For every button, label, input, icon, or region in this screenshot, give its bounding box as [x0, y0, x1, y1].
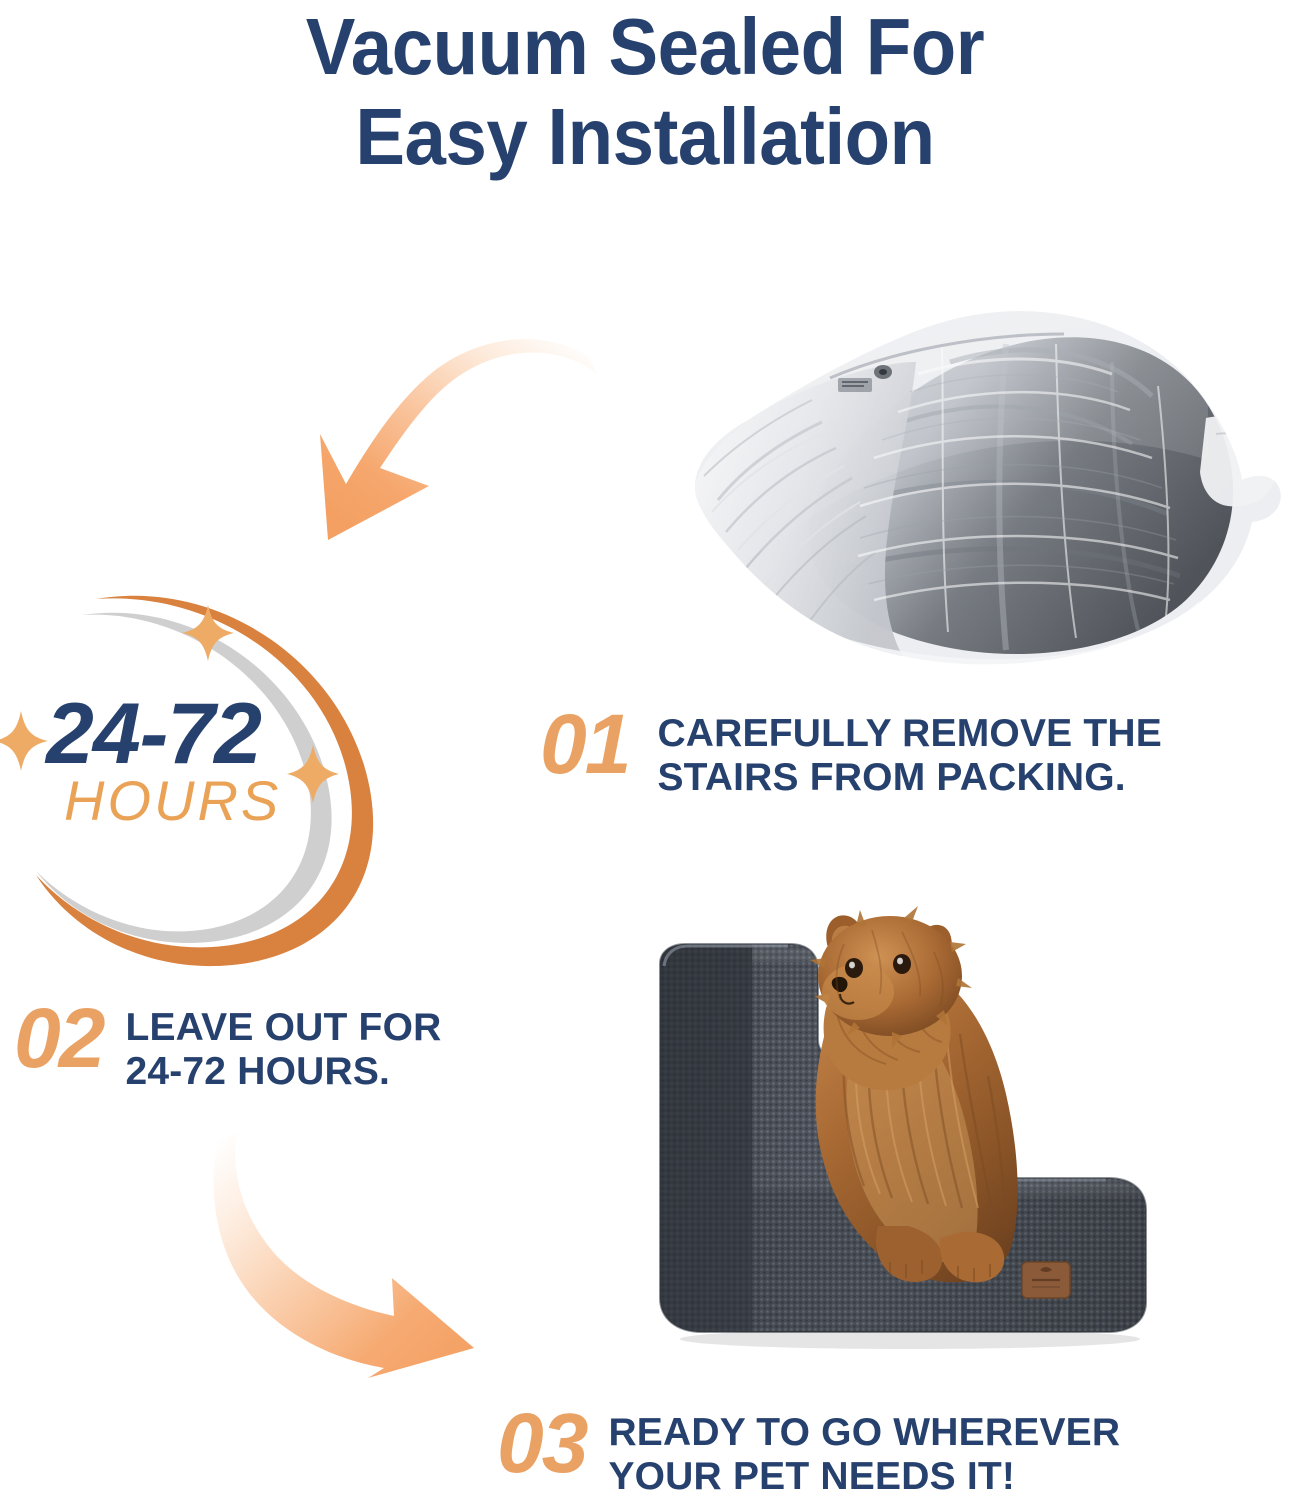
- arrow-step-one: [300, 318, 600, 573]
- badge-duration-unit: HOURS: [64, 768, 281, 833]
- title-line-2: Easy Installation: [45, 92, 1245, 182]
- step-number-02: 02: [14, 1000, 103, 1077]
- infographic-canvas: Vacuum Sealed For Easy Installation: [0, 0, 1290, 1500]
- title-line-1: Vacuum Sealed For: [45, 0, 1245, 92]
- sparkle-icon-left: [0, 711, 48, 771]
- step-number-03: 03: [497, 1405, 586, 1482]
- brand-leather-tag-icon: [1022, 1262, 1070, 1298]
- vacuum-packed-product-image: [660, 300, 1290, 690]
- step-item-01: 01 CAREFULLY REMOVE THE STAIRS FROM PACK…: [540, 706, 1162, 799]
- dog-eye-right: [893, 954, 911, 974]
- step-item-03: 03 READY TO GO WHEREVER YOUR PET NEEDS I…: [497, 1405, 1120, 1498]
- sparkle-icon-right: [287, 745, 339, 803]
- arrow-step-three: [178, 1128, 528, 1383]
- step-item-02: 02 LEAVE OUT FOR 24-72 HOURS.: [14, 1000, 442, 1093]
- page-title: Vacuum Sealed For Easy Installation: [45, 0, 1245, 181]
- pet-stairs-with-dog-image: [640, 890, 1290, 1375]
- step-text-03: READY TO GO WHEREVER YOUR PET NEEDS IT!: [608, 1405, 1120, 1498]
- step-text-01: CAREFULLY REMOVE THE STAIRS FROM PACKING…: [657, 706, 1162, 799]
- step-number-01: 01: [540, 706, 629, 783]
- step-text-02: LEAVE OUT FOR 24-72 HOURS.: [125, 1000, 441, 1093]
- dog-eye-left: [845, 958, 863, 978]
